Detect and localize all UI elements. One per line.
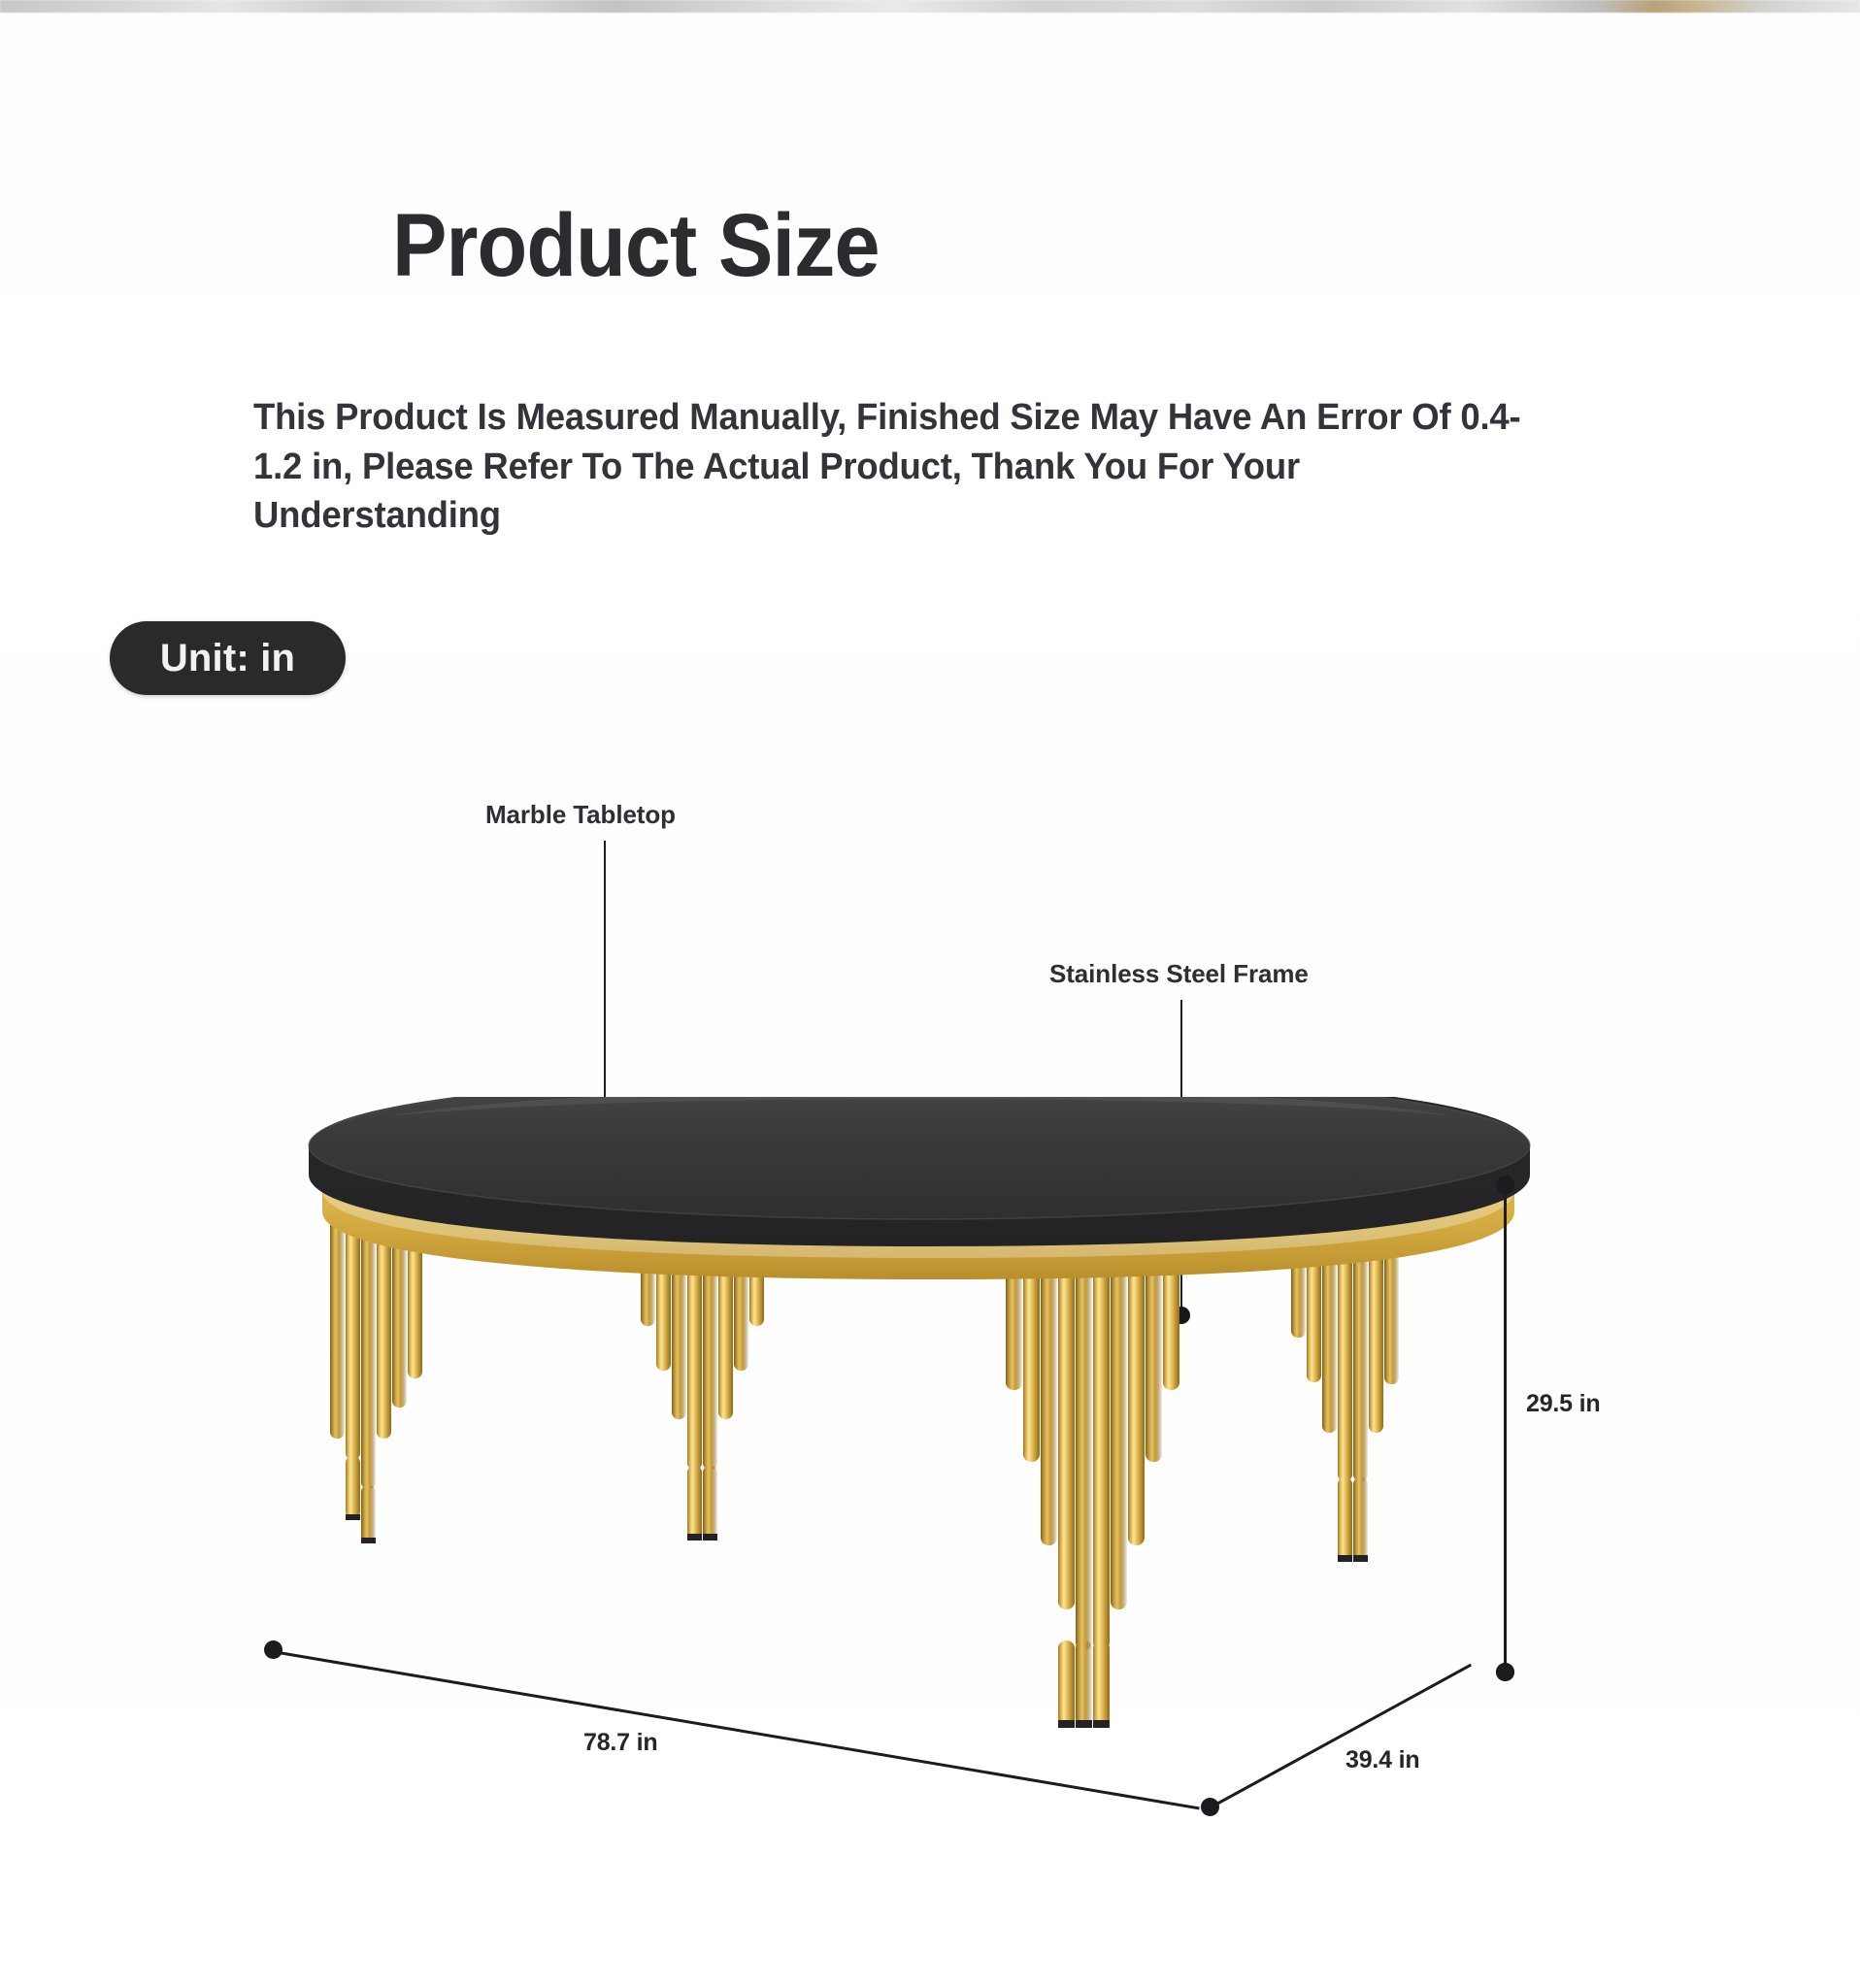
unit-badge: Unit: in — [110, 621, 346, 695]
dimension-label-height: 29.5 in — [1526, 1390, 1600, 1418]
callout-label-marble-tabletop: Marble Tabletop — [485, 800, 676, 830]
dimension-line-height — [1504, 1185, 1507, 1668]
unit-badge-label: Unit: in — [160, 637, 295, 680]
dimension-label-depth: 39.4 in — [1345, 1746, 1419, 1774]
dimension-label-width: 78.7 in — [583, 1729, 657, 1757]
leg-cluster-right-rear — [1291, 1227, 1399, 1562]
measurement-disclaimer: This Product Is Measured Manually, Finis… — [253, 393, 1521, 541]
product-size-infographic: Product Size This Product Is Measured Ma… — [0, 0, 1860, 1988]
previous-image-remnant-strip — [0, 0, 1860, 13]
dimension-endpoint-depth-right — [1496, 1663, 1514, 1681]
callout-label-stainless-steel-frame: Stainless Steel Frame — [1049, 959, 1309, 989]
page-title: Product Size — [392, 201, 880, 290]
product-illustration-dining-table — [0, 1097, 1860, 1776]
leg-cluster-center-front — [1006, 1223, 1179, 1728]
